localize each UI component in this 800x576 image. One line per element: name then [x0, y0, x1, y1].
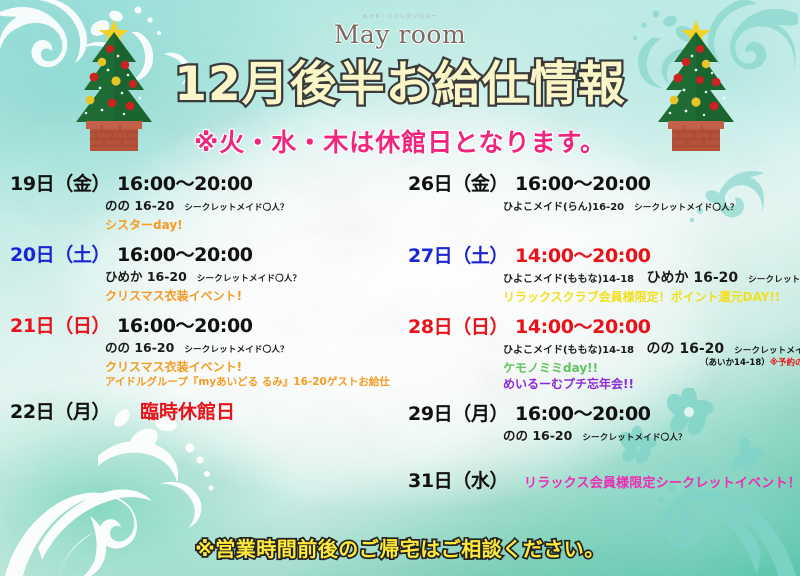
- entry-time: 14:00～20:00: [515, 316, 651, 338]
- entry-details: のの 16-20シークレットメイド〇人？ クリスマス衣装イベント! アイドルグル…: [105, 339, 395, 390]
- secret-maid-note: シークレットメイド〇人？: [582, 433, 686, 443]
- entry-cast-line: のの 16-20シークレットメイド〇人？: [503, 427, 798, 447]
- brand-logo: メイド・リフレクソロジー May room: [0, 14, 800, 49]
- entry-event-note: クリスマス衣装イベント!: [105, 288, 395, 304]
- entry-date: 29日（月）: [408, 403, 508, 425]
- entry-date: 26日（金）: [408, 173, 508, 195]
- poster-canvas: メイド・リフレクソロジー May room: [0, 0, 800, 576]
- secret-maid-note: シークレットメイド〇人？: [734, 346, 800, 356]
- schedule-columns: 19日（金）16:00～20:00 のの 16-20シークレットメイド〇人？ シ…: [0, 172, 800, 512]
- entry-guest-note: アイドルグループ『myあいどる るみ』16-20ゲストお給仕: [105, 375, 395, 390]
- entry-cast-line: のの 16-20シークレットメイド〇人？: [105, 339, 395, 359]
- footer-notice: ※営業時間前後のご帰宅はご相談ください。: [0, 536, 800, 562]
- cast-names: ひよこメイド(ももな)14-18: [503, 345, 634, 356]
- cast-names-secondary: のの 16-20: [646, 341, 724, 357]
- entry-time: 16:00～20:00: [117, 173, 253, 195]
- entry-date: 27日（土）: [408, 245, 508, 267]
- entry-details: ひよこメイド(らん)16-20シークレットメイド〇人？: [503, 197, 798, 217]
- sidenote-cast: （あいか14-18）: [700, 358, 770, 368]
- entry-date: 22日（月）: [10, 401, 110, 423]
- entry-time: 16:00～20:00: [117, 244, 253, 266]
- schedule-entry[interactable]: 26日（金）16:00～20:00 ひよこメイド(らん)16-20シークレットメ…: [408, 172, 798, 217]
- entry-event-note: クリスマス衣装イベント!: [105, 359, 395, 375]
- schedule-entry[interactable]: 27日（土）14:00～20:00 ひよこメイド(ももな)14-18 ひめか 1…: [408, 244, 798, 305]
- schedule-entry[interactable]: 28日（日）14:00～20:00 ひよこメイド(ももな)14-18 のの 16…: [408, 315, 798, 392]
- entry-time: 16:00～20:00: [515, 173, 651, 195]
- entry-header: 26日（金）16:00～20:00: [408, 172, 798, 197]
- entry-cast-line: のの 16-20シークレットメイド〇人？: [105, 197, 395, 217]
- entry-details: ひよこメイド(ももな)14-18 ひめか 16-20シークレットメイド〇人？ リ…: [503, 269, 798, 305]
- cast-names: のの 16-20: [105, 198, 174, 213]
- entry-header: 20日（土）16:00～20:00: [10, 243, 395, 268]
- entry-cast-line: ひよこメイド(らん)16-20シークレットメイド〇人？: [503, 197, 798, 217]
- entry-date: 31日（水）: [408, 470, 508, 492]
- schedule-entry[interactable]: 29日（月）16:00～20:00 のの 16-20シークレットメイド〇人？: [408, 402, 798, 447]
- entry-event-note: シスターday!: [105, 217, 395, 233]
- closed-badge: 臨時休館日: [140, 401, 235, 423]
- entry-details: のの 16-20シークレットメイド〇人？ シスターday!: [105, 197, 395, 233]
- entry-time: 14:00～20:00: [515, 245, 651, 267]
- schedule-entry[interactable]: 22日（月）臨時休館日: [10, 400, 395, 425]
- secret-maid-note: シークレットメイド〇人？: [184, 345, 288, 355]
- schedule-column-right: 26日（金）16:00～20:00 ひよこメイド(らん)16-20シークレットメ…: [408, 172, 798, 499]
- cast-names: ひよこメイド(ももな)14-18: [503, 274, 634, 285]
- entry-header: 31日（水）リラックス会員様限定シークレットイベント！: [408, 469, 798, 494]
- entry-header: 29日（月）16:00～20:00: [408, 402, 798, 427]
- reservation-sidenote: （あいか14-18）※予約のみ: [700, 357, 800, 369]
- cast-names: のの 16-20: [105, 340, 174, 355]
- entry-details: ひめか 16-20シークレットメイド〇人？ クリスマス衣装イベント!: [105, 268, 395, 304]
- schedule-entry[interactable]: 21日（日）16:00～20:00 のの 16-20シークレットメイド〇人？ ク…: [10, 314, 395, 390]
- cast-names: ひよこメイド(らん)16-20: [503, 202, 624, 213]
- schedule-column-left: 19日（金）16:00～20:00 のの 16-20シークレットメイド〇人？ シ…: [10, 172, 395, 430]
- secret-maid-note: シークレットメイド〇人？: [748, 275, 800, 285]
- entry-date: 20日（土）: [10, 244, 110, 266]
- entry-time: 16:00～20:00: [117, 315, 253, 337]
- entry-header: 28日（日）14:00～20:00: [408, 315, 798, 340]
- entry-event-note-secondary: めいるーむプチ忘年会!!: [503, 376, 798, 392]
- entry-date: 21日（日）: [10, 315, 110, 337]
- secret-maid-note: シークレットメイド〇人？: [634, 203, 738, 213]
- logo-name: May room: [0, 21, 800, 49]
- schedule-entry[interactable]: 31日（水）リラックス会員様限定シークレットイベント！: [408, 469, 798, 494]
- page-title: 12月後半お給仕情報: [0, 58, 800, 112]
- secret-maid-note: シークレットメイド〇人？: [197, 274, 301, 284]
- entry-event-note: リラックスクラブ会員様限定！ポイント還元DAY!!: [503, 289, 798, 305]
- cast-names: ひめか 16-20: [105, 269, 187, 284]
- entry-header: 22日（月）臨時休館日: [10, 400, 395, 425]
- cast-names: のの 16-20: [503, 428, 572, 443]
- cast-names-secondary: ひめか 16-20: [646, 270, 738, 286]
- schedule-entry[interactable]: 20日（土）16:00～20:00 ひめか 16-20シークレットメイド〇人？ …: [10, 243, 395, 304]
- entry-date: 28日（日）: [408, 316, 508, 338]
- entry-header: 27日（土）14:00～20:00: [408, 244, 798, 269]
- entry-header: 19日（金）16:00～20:00: [10, 172, 395, 197]
- closed-days-notice: ※火・水・木は休館日となります。: [0, 128, 800, 158]
- entry-date: 19日（金）: [10, 173, 110, 195]
- entry-header: 21日（日）16:00～20:00: [10, 314, 395, 339]
- entry-details: のの 16-20シークレットメイド〇人？: [503, 427, 798, 447]
- sidenote-reservation-only: ※予約のみ: [770, 358, 800, 368]
- entry-event-note: リラックス会員様限定シークレットイベント！: [524, 476, 800, 491]
- entry-cast-line: ひめか 16-20シークレットメイド〇人？: [105, 268, 395, 288]
- entry-time: 16:00～20:00: [515, 403, 651, 425]
- secret-maid-note: シークレットメイド〇人？: [184, 203, 288, 213]
- schedule-entry[interactable]: 19日（金）16:00～20:00 のの 16-20シークレットメイド〇人？ シ…: [10, 172, 395, 233]
- entry-cast-line: ひよこメイド(ももな)14-18 ひめか 16-20シークレットメイド〇人？: [503, 269, 798, 289]
